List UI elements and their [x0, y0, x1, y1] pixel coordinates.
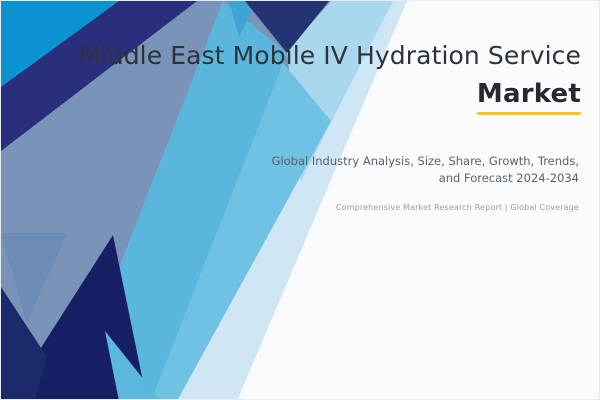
- accent-underline: [477, 112, 581, 115]
- cover-text-layer: Middle East Mobile IV Hydration Service …: [1, 1, 600, 400]
- report-subtitle: Global Industry Analysis, Size, Share, G…: [249, 153, 579, 188]
- emphasis-block: Market: [477, 80, 581, 116]
- page-title: Middle East Mobile IV Hydration Service: [61, 41, 581, 71]
- report-tagline: Comprehensive Market Research Report | G…: [249, 202, 579, 213]
- subtitle-block: Global Industry Analysis, Size, Share, G…: [249, 153, 579, 213]
- emphasis-word: Market: [477, 80, 581, 110]
- report-cover: Middle East Mobile IV Hydration Service …: [0, 0, 600, 400]
- title-block: Middle East Mobile IV Hydration Service …: [61, 41, 581, 115]
